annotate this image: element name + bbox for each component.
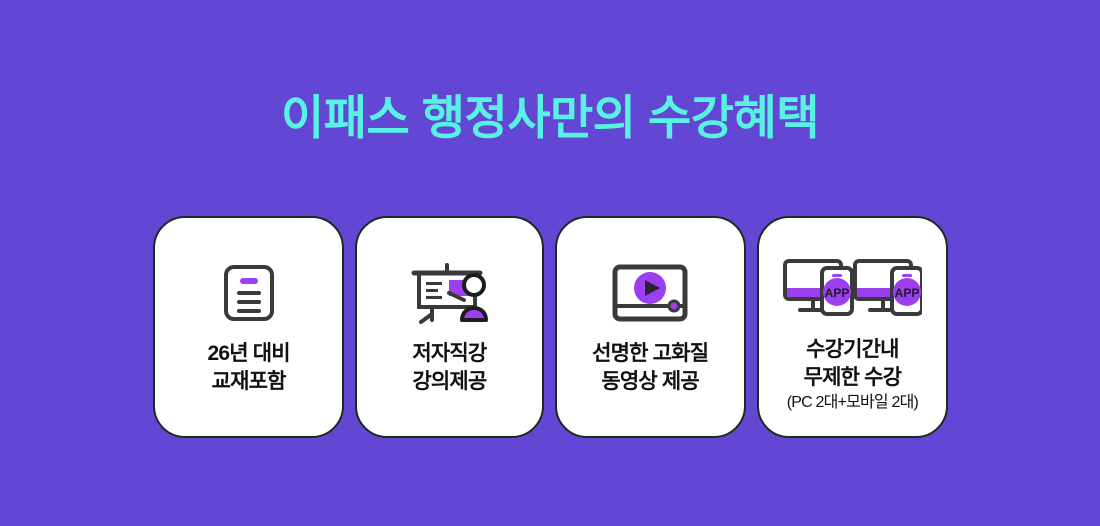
benefit-card-line2: 교재포함 [212, 368, 286, 396]
benefit-card-line2: 강의제공 [412, 368, 486, 396]
video-player-icon [612, 250, 688, 336]
benefit-card-line1: 26년 대비 [207, 340, 289, 368]
benefit-card-line1: 저자직강 [412, 340, 486, 368]
devices-app-icon: APP APP [782, 246, 922, 332]
presentation-instructor-icon [408, 250, 490, 336]
app-badge-label: APP [895, 286, 920, 300]
benefit-card-line1: 선명한 고화질 [592, 340, 708, 368]
benefit-card-textbook[interactable]: 26년 대비 교재포함 [153, 216, 344, 438]
page-title: 이패스 행정사만의 수강혜택 [0, 92, 1100, 144]
benefit-card-unlimited-devices[interactable]: APP APP 수강기간내 무제한 수강 (PC 2대+모바일 [757, 216, 948, 438]
benefit-card-author-lecture[interactable]: 저자직강 강의제공 [355, 216, 543, 438]
benefit-card-line2: 동영상 제공 [601, 368, 699, 396]
document-icon [223, 250, 275, 336]
benefit-card-line1: 수강기간내 [806, 336, 899, 364]
app-badge-label: APP [825, 286, 850, 300]
benefit-card-list: 26년 대비 교재포함 [153, 216, 948, 438]
benefit-card-line3: (PC 2대+모바일 2대) [787, 393, 918, 413]
promo-banner: 이패스 행정사만의 수강혜택 26년 대비 교재포함 [0, 0, 1100, 526]
benefit-card-hd-video[interactable]: 선명한 고화질 동영상 제공 [555, 216, 746, 438]
benefit-card-line2: 무제한 수강 [804, 364, 902, 392]
